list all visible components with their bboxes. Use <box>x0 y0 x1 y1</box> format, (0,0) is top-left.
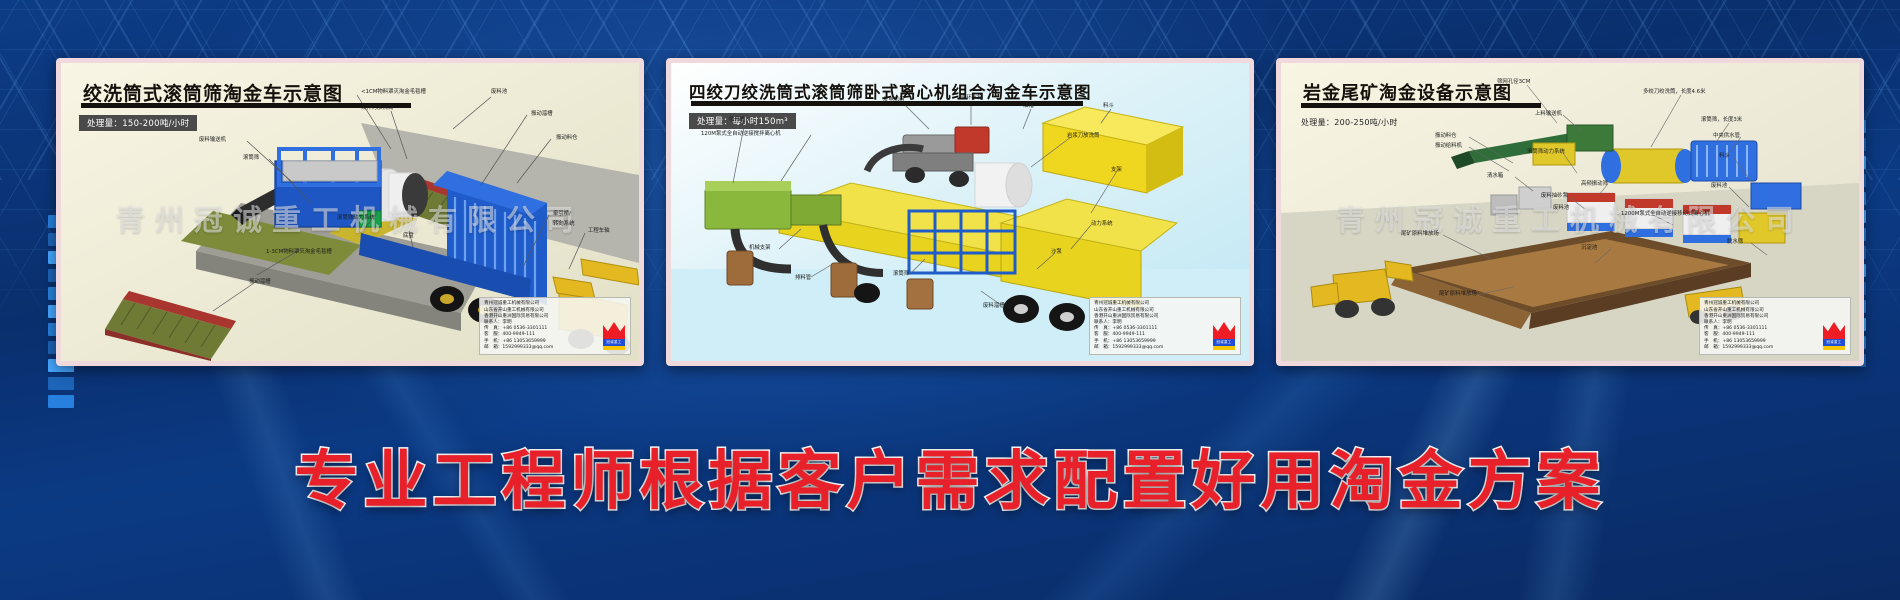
panel-3-contact-lines: 青州冠诚重工机械有限公司山东省开山重工机械有限公司香港开山重洲国际贸易有限公司联… <box>1704 301 1819 351</box>
panel-3-rock-gold-tailings[interactable]: 青州冠诚重工机械有限公司 岩金尾矿淘金设备示意图 处理量：200-250吨/小时… <box>1276 58 1864 366</box>
panel-2-contact-card: 青州冠诚重工机械有限公司山东省开山重工机械有限公司香港开山重洲国际贸易有限公司联… <box>1089 297 1241 355</box>
crown-logo-text: 冠诚重工 <box>1213 339 1235 346</box>
panel-1-title: 绞洗筒式滚筒筛淘金车示意图 <box>83 79 343 106</box>
crown-logo-icon: 冠诚重工 <box>1212 321 1236 351</box>
panel-1-contact-card: 青州冠诚重工机械有限公司山东省开山重工机械有限公司香港开山重洲国际贸易有限公司联… <box>479 297 631 355</box>
diagram-panels-row: 青州冠诚重工机械有限公司 绞洗筒式滚筒筛淘金车示意图 处理量：150-200吨/… <box>0 58 1900 358</box>
contact-line: 邮 箱：1592999333@qq.com <box>1094 345 1209 351</box>
contact-line: 邮 箱：1592999333@qq.com <box>484 345 599 351</box>
contact-line: 邮 箱：1592999333@qq.com <box>1704 345 1819 351</box>
panel-2-contact-lines: 青州冠诚重工机械有限公司山东省开山重工机械有限公司香港开山重洲国际贸易有限公司联… <box>1094 301 1209 351</box>
panel-1-gold-washing-trommel[interactable]: 青州冠诚重工机械有限公司 绞洗筒式滚筒筛淘金车示意图 处理量：150-200吨/… <box>56 58 644 366</box>
panel-1-contact-lines: 青州冠诚重工机械有限公司山东省开山重工机械有限公司香港开山重洲国际贸易有限公司联… <box>484 301 599 351</box>
panel-2-title-underline <box>691 101 1083 106</box>
crown-logo-icon: 冠诚重工 <box>602 321 626 351</box>
panel-3-contact-card: 青州冠诚重工机械有限公司山东省开山重工机械有限公司香港开山重洲国际贸易有限公司联… <box>1699 297 1851 355</box>
panel-2-four-cutter-centrifuge[interactable]: 青州冠诚重工机械有限公司 四绞刀绞洗筒式滚筒筛卧式离心机组合淘金车示意图 处理量… <box>666 58 1254 366</box>
panel-2-capacity-badge: 处理量：每小时150m³ <box>689 113 796 129</box>
crown-logo-text: 冠诚重工 <box>603 339 625 346</box>
panel-3-capacity-badge: 处理量：200-250吨/小时 <box>1299 115 1406 130</box>
crown-logo-icon: 冠诚重工 <box>1822 321 1846 351</box>
panel-1-title-underline <box>81 103 411 108</box>
panel-3-title-underline <box>1301 103 1541 108</box>
panel-1-capacity-badge: 处理量：150-200吨/小时 <box>79 115 197 131</box>
promo-headline: 专业工程师根据客户需求配置好用淘金方案 <box>0 430 1900 522</box>
crown-logo-text: 冠诚重工 <box>1823 339 1845 346</box>
panel-3-title: 岩金尾矿淘金设备示意图 <box>1303 79 1512 105</box>
panel-2-title: 四绞刀绞洗筒式滚筒筛卧式离心机组合淘金车示意图 <box>689 79 1092 103</box>
